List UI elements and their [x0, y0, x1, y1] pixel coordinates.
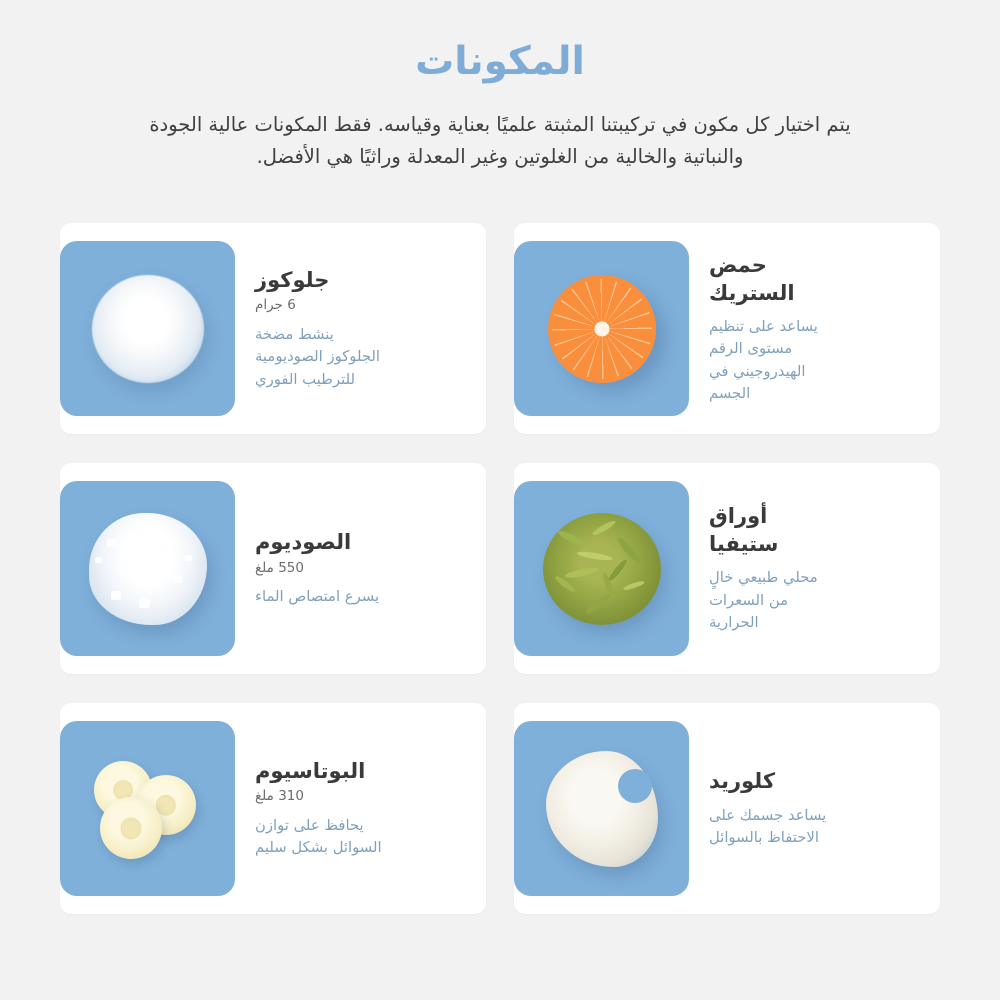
banana-core-shape: [156, 795, 176, 815]
salt-grain-shape: [111, 591, 121, 600]
ingredient-title: الصوديوم: [255, 529, 351, 556]
leaf-shape: [615, 536, 642, 564]
salt-grain-shape: [95, 557, 102, 563]
ingredient-description: محلي طبيعي خالٍ من السعرات الحرارية: [709, 567, 841, 634]
leaf-shape: [591, 519, 616, 538]
leaf-shape: [556, 529, 586, 548]
ingredient-text-block: الصوديوم 550 ملغ يسرع امتصاص الماء: [241, 529, 464, 608]
leaf-pile-shape: [543, 513, 661, 625]
ingredient-text-block: حمض الستريك يساعد على تنظيم مستوى الرقم …: [695, 252, 918, 406]
sugar-pile-shape: [92, 275, 204, 383]
orange-slice-image: [514, 241, 689, 416]
ingredient-text-block: كلوريد يساعد جسمك على الاحتفاظ بالسوائل: [695, 768, 918, 849]
ingredient-description: يساعد على تنظيم مستوى الرقم الهيدروجيني …: [709, 316, 841, 406]
page-title: المكونات: [0, 38, 1000, 87]
powder-pile-shape: [546, 751, 658, 867]
salt-grain-shape: [119, 565, 131, 575]
salt-grain-shape: [159, 543, 169, 552]
chloride-powder-image: [514, 721, 689, 896]
salt-grain-shape: [139, 599, 150, 608]
salt-crystals-art: [60, 481, 235, 656]
ingredient-card[interactable]: البوتاسيوم 310 ملغ يحافظ على توازن السوا…: [60, 703, 486, 914]
salt-pile-shape: [89, 513, 207, 625]
ingredient-description: يحافظ على توازن السوائل بشكل سليم: [255, 815, 387, 860]
ingredient-text-block: البوتاسيوم 310 ملغ يحافظ على توازن السوا…: [241, 758, 464, 860]
orange-core-shape: [594, 321, 609, 336]
orange-slice-art: [514, 241, 689, 416]
ingredient-card[interactable]: أوراق ستيفيا محلي طبيعي خالٍ من السعرات …: [514, 463, 940, 674]
stevia-leaves-art: [514, 481, 689, 656]
stevia-leaves-image: [514, 481, 689, 656]
ingredient-title: حمض الستريك: [709, 252, 837, 307]
leaf-shape: [622, 579, 644, 591]
ingredients-grid: حمض الستريك يساعد على تنظيم مستوى الرقم …: [60, 223, 940, 914]
ingredient-dose: 6 جرام: [255, 297, 296, 315]
ingredient-description: يساعد جسمك على الاحتفاظ بالسوائل: [709, 805, 841, 850]
ingredient-title: أوراق ستيفيا: [709, 503, 837, 558]
ingredient-title: كلوريد: [709, 768, 775, 795]
ingredient-card[interactable]: كلوريد يساعد جسمك على الاحتفاظ بالسوائل: [514, 703, 940, 914]
banana-slices-art: [60, 721, 235, 896]
ingredient-dose: 310 ملغ: [255, 788, 304, 806]
ingredient-card[interactable]: الصوديوم 550 ملغ يسرع امتصاص الماء: [60, 463, 486, 674]
powder-notch-shape: [618, 769, 652, 803]
ingredients-page: المكونات يتم اختيار كل مكون في تركيبتنا …: [0, 0, 1000, 1000]
banana-slice-shape: [100, 797, 162, 859]
salt-grain-shape: [133, 529, 144, 538]
leaf-shape: [607, 558, 628, 582]
ingredient-title: البوتاسيوم: [255, 758, 365, 785]
ingredient-dose: 550 ملغ: [255, 560, 304, 578]
leaf-shape: [584, 592, 611, 616]
ingredient-title: جلوكوز: [255, 267, 329, 294]
page-subtitle: يتم اختيار كل مكون في تركيبتنا المثبتة ع…: [120, 109, 880, 174]
chloride-powder-art: [514, 721, 689, 896]
salt-grain-shape: [147, 571, 157, 580]
salt-crystals-image: [60, 481, 235, 656]
salt-grain-shape: [173, 575, 182, 583]
ingredient-description: يسرع امتصاص الماء: [255, 586, 379, 608]
ingredient-card[interactable]: جلوكوز 6 جرام ينشط مضخة الجلوكوز الصوديو…: [60, 223, 486, 434]
salt-grain-shape: [185, 555, 192, 561]
banana-slices-image: [60, 721, 235, 896]
salt-grain-shape: [107, 539, 116, 547]
banana-core-shape: [120, 818, 141, 839]
ingredient-text-block: جلوكوز 6 جرام ينشط مضخة الجلوكوز الصوديو…: [241, 267, 464, 391]
ingredient-card[interactable]: حمض الستريك يساعد على تنظيم مستوى الرقم …: [514, 223, 940, 434]
glucose-powder-art: [60, 241, 235, 416]
glucose-powder-image: [60, 241, 235, 416]
ingredient-description: ينشط مضخة الجلوكوز الصوديومية للترطيب ال…: [255, 324, 387, 391]
page-header: المكونات يتم اختيار كل مكون في تركيبتنا …: [0, 0, 1000, 173]
leaf-shape: [576, 550, 612, 561]
leaf-shape: [564, 565, 599, 580]
ingredient-text-block: أوراق ستيفيا محلي طبيعي خالٍ من السعرات …: [695, 503, 918, 634]
